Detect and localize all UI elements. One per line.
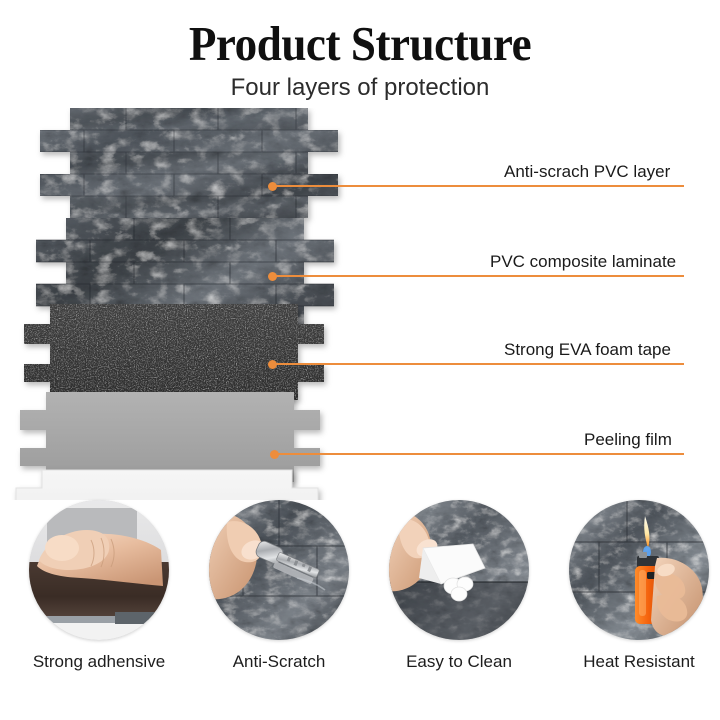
feature-heat-resistant: Heat Resistant xyxy=(549,500,720,672)
page-title: Product Structure xyxy=(29,16,691,72)
anti-scratch-photo xyxy=(209,500,349,640)
exploded-layer-stack xyxy=(0,108,460,498)
feature-easy-to-clean: Easy to Clean xyxy=(369,500,549,672)
feature-anti-scratch: Anti-Scratch xyxy=(189,500,369,672)
page-subtitle: Four layers of protection xyxy=(0,72,720,104)
layer-pvc-composite-laminate xyxy=(24,304,324,400)
hand-with-keys-icon xyxy=(209,500,349,640)
hand-with-cloth-icon xyxy=(389,500,529,640)
heat-resistant-photo xyxy=(569,500,709,640)
feature-caption-strong-adhesive: Strong adhensive xyxy=(9,652,189,672)
leader-line-eva-foam-tape xyxy=(272,363,684,365)
feature-caption-anti-scratch: Anti-Scratch xyxy=(189,652,369,672)
layer-stack-illustration xyxy=(0,108,460,500)
layer-label-anti-scratch-pvc: Anti-scrach PVC layer xyxy=(504,162,670,182)
layer-eva-foam-tape xyxy=(20,392,320,482)
layer-peeling-film xyxy=(16,470,318,500)
leader-line-anti-scratch-pvc xyxy=(272,185,684,187)
layer-label-pvc-composite-laminate: PVC composite laminate xyxy=(490,252,676,272)
feature-strong-adhesive: Strong adhensive xyxy=(9,500,189,672)
feature-caption-easy-to-clean: Easy to Clean xyxy=(369,652,549,672)
leader-line-pvc-composite-laminate xyxy=(272,275,684,277)
hand-with-lighter-icon xyxy=(569,500,709,640)
layer-label-eva-foam-tape: Strong EVA foam tape xyxy=(504,340,671,360)
feature-caption-heat-resistant: Heat Resistant xyxy=(549,652,720,672)
product-structure-infographic: Product Structure Four layers of protect… xyxy=(0,0,720,720)
layer-label-peeling-film: Peeling film xyxy=(584,430,672,450)
leader-line-peeling-film xyxy=(274,453,684,455)
layer-anti-scratch-pvc xyxy=(40,108,340,218)
easy-to-clean-photo xyxy=(389,500,529,640)
hand-pressing-tile-icon xyxy=(29,500,169,640)
feature-row: Strong adhensive xyxy=(0,500,720,700)
strong-adhesive-photo xyxy=(29,500,169,640)
